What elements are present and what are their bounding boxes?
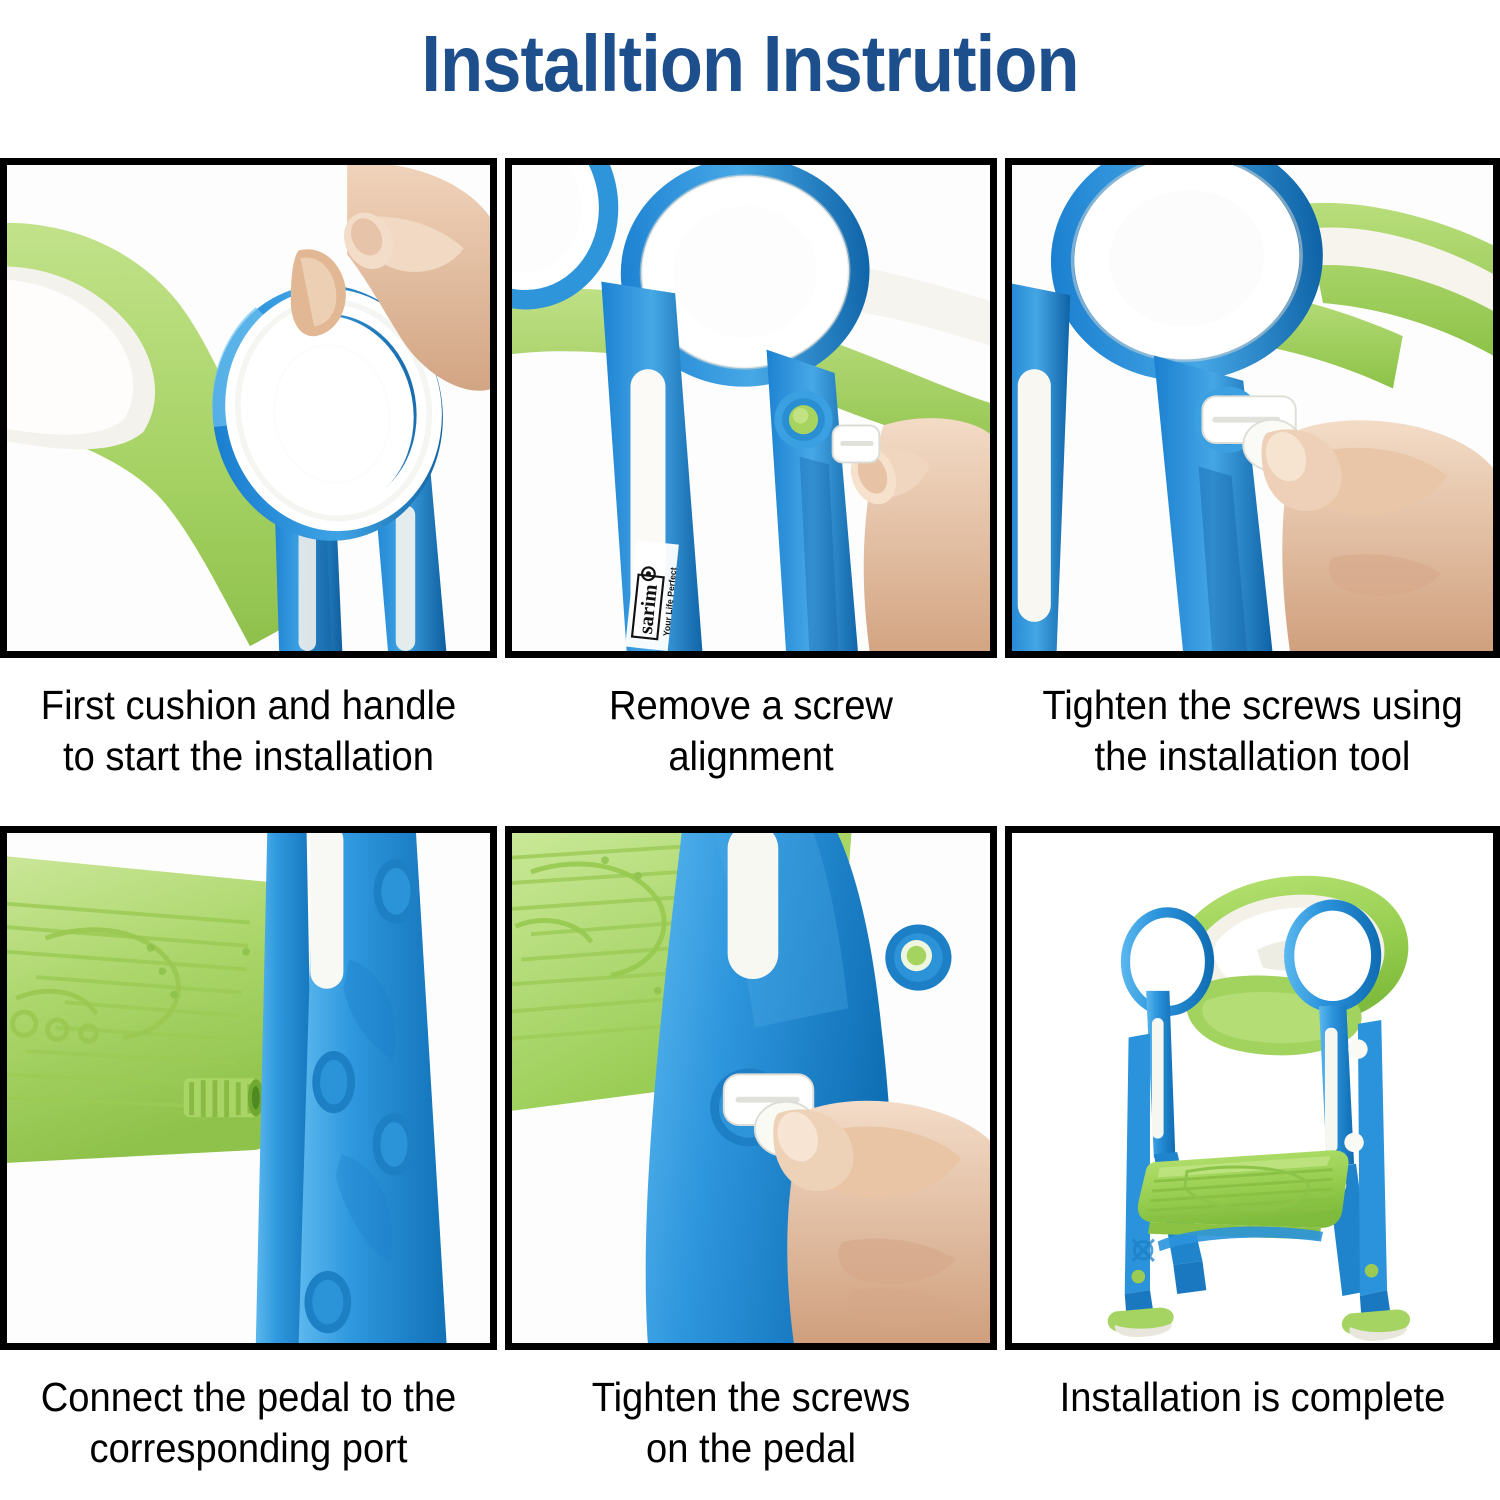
step-1-cell: [0, 158, 497, 658]
hand: [1259, 420, 1493, 651]
step-6-cell: [1005, 826, 1500, 1350]
green-screw: [885, 924, 951, 990]
step-3-illustration: [1012, 165, 1493, 651]
captions-row-top: First cushion and handle to start the in…: [0, 658, 1500, 826]
white-screw: [833, 425, 880, 462]
handle-ring-right: [1284, 899, 1381, 1012]
step-6-image-panel: [1005, 826, 1500, 1350]
step-1-illustration: [7, 165, 490, 651]
step-6-caption: Installation is complete: [1022, 1350, 1482, 1500]
step-1-image-panel: [0, 158, 497, 658]
step-pedal: [1138, 1150, 1349, 1239]
threaded-post: [184, 1078, 264, 1117]
step-4-image-panel: [0, 826, 497, 1350]
step-5-caption: Tighten the screws on the pedal: [522, 1350, 980, 1500]
step-2-cell: sarim Your Life Perfect: [505, 158, 997, 658]
steps-grid: sarim Your Life Perfect: [0, 158, 1500, 1500]
step-3-caption: Tighten the screws using the installatio…: [1022, 658, 1482, 826]
steps-row-bottom: [0, 826, 1500, 1350]
step-5-image-panel: [505, 826, 997, 1350]
captions-row-bottom: Connect the pedal to the corresponding p…: [0, 1350, 1500, 1500]
steps-row-top: sarim Your Life Perfect: [0, 158, 1500, 658]
installation-instruction-page: Installtion Instrution: [0, 0, 1500, 1500]
step-2-caption: Remove a screw alignment: [522, 658, 980, 826]
hand: [771, 1101, 990, 1343]
step-1-caption: First cushion and handle to start the in…: [17, 658, 479, 826]
step-2-illustration: sarim Your Life Perfect: [512, 165, 990, 651]
step-5-cell: [505, 826, 997, 1350]
step-2-image-panel: sarim Your Life Perfect: [505, 158, 997, 658]
step-4-caption: Connect the pedal to the corresponding p…: [17, 1350, 479, 1500]
step-3-cell: [1005, 158, 1500, 658]
page-title: Installtion Instrution: [90, 22, 1410, 106]
step-4-cell: [0, 826, 497, 1350]
pivot-screw: [774, 391, 832, 449]
step-6-illustration: [1012, 833, 1493, 1343]
step-4-illustration: [7, 833, 490, 1343]
step-5-illustration: [512, 833, 990, 1343]
step-3-image-panel: [1005, 158, 1500, 658]
